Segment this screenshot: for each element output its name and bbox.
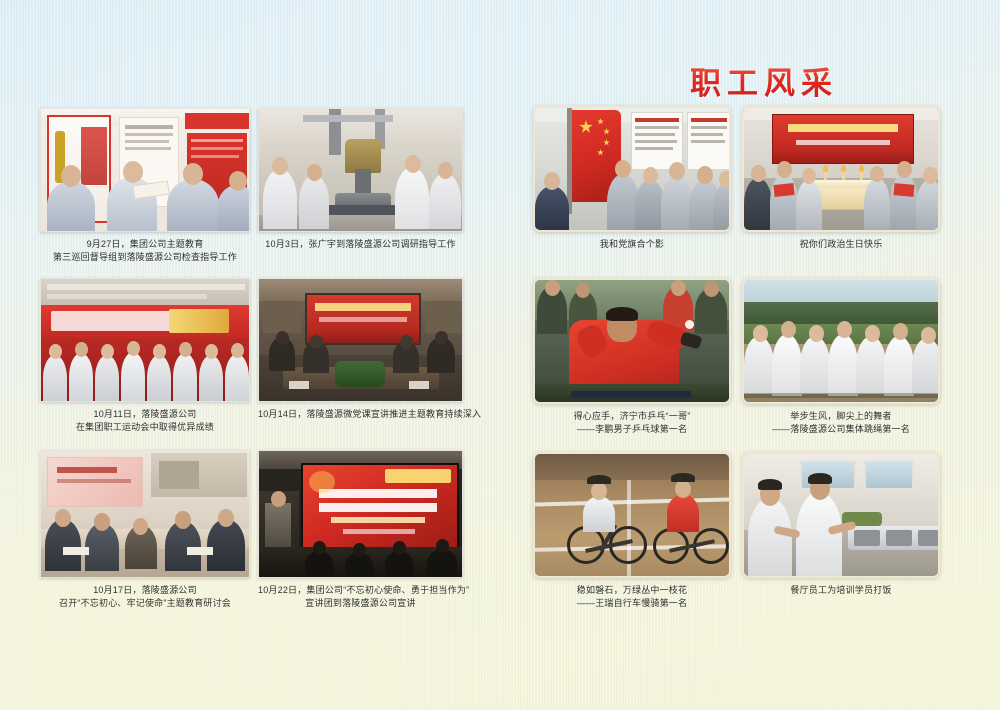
- photo-canteen-staff-serving[interactable]: [742, 452, 940, 578]
- poster-page: 职工风采: [0, 0, 1000, 710]
- photo-block-canteen-staff-serving: 餐厅员工为培训学员打饭: [742, 452, 940, 597]
- caption-slow-cycling-champion: 稳如磐石，万绿丛中一枝花 ——王瑞自行车慢骑第一名: [533, 584, 731, 610]
- caption-micro-party-lecture: 10月14日，落陵盛源微党课宣讲推进主题教育持续深入: [258, 408, 463, 421]
- photo-party-education-inspection[interactable]: [40, 108, 250, 232]
- caption-party-education-inspection: 9月27日，集团公司主题教育 第三巡回督导组到落陵盛源公司检查指导工作: [40, 238, 250, 264]
- photo-block-speaking-tour: 10月22日，集团公司“不忘初心使命、勇于担当作为” 宣讲团到落陵盛源公司宣讲: [258, 450, 463, 610]
- photo-speaking-tour[interactable]: [258, 450, 463, 578]
- photo-block-table-tennis-champion: 得心应手，济宁市乒乓“一哥” ——李鹏男子乒乓球第一名: [533, 278, 731, 436]
- caption-canteen-staff-serving: 餐厅员工为培训学员打饭: [742, 584, 940, 597]
- caption-sports-meeting-award: 10月11日，落陵盛源公司 在集团职工运动会中取得优异成绩: [40, 408, 250, 434]
- photo-zhang-guangyu-research[interactable]: [258, 108, 463, 232]
- caption-zhang-guangyu-research: 10月3日，张广宇到落陵盛源公司调研指导工作: [258, 238, 463, 251]
- photo-political-birthday[interactable]: [742, 106, 940, 232]
- photo-block-political-birthday: 祝你们政治生日快乐: [742, 106, 940, 251]
- photo-block-party-flag-group: 我和党旗合个影: [533, 106, 731, 251]
- photo-table-tennis-champion[interactable]: [533, 278, 731, 404]
- photo-block-sports-meeting-award: 10月11日，落陵盛源公司 在集团职工运动会中取得优异成绩: [40, 278, 250, 434]
- page-title: 职工风采: [690, 60, 920, 100]
- photo-block-party-education-inspection: 9月27日，集团公司主题教育 第三巡回督导组到落陵盛源公司检查指导工作: [40, 108, 250, 264]
- photo-block-slow-cycling-champion: 稳如磐石，万绿丛中一枝花 ——王瑞自行车慢骑第一名: [533, 452, 731, 610]
- caption-table-tennis-champion: 得心应手，济宁市乒乓“一哥” ——李鹏男子乒乓球第一名: [533, 410, 731, 436]
- photo-sports-meeting-award[interactable]: [40, 278, 250, 402]
- photo-micro-party-lecture[interactable]: [258, 278, 463, 402]
- caption-political-birthday: 祝你们政治生日快乐: [742, 238, 940, 251]
- caption-speaking-tour: 10月22日，集团公司“不忘初心使命、勇于担当作为” 宣讲团到落陵盛源公司宣讲: [258, 584, 463, 610]
- photo-rope-skipping-team[interactable]: [742, 278, 940, 404]
- photo-block-rope-skipping-team: 举步生风，脚尖上的舞者 ——落陵盛源公司集体跳绳第一名: [742, 278, 940, 436]
- photo-theme-education-seminar[interactable]: [40, 450, 250, 578]
- photo-block-zhang-guangyu-research: 10月3日，张广宇到落陵盛源公司调研指导工作: [258, 108, 463, 251]
- photo-block-theme-education-seminar: 10月17日，落陵盛源公司 召开“不忘初心、牢记使命”主题教育研讨会: [40, 450, 250, 610]
- caption-rope-skipping-team: 举步生风，脚尖上的舞者 ——落陵盛源公司集体跳绳第一名: [742, 410, 940, 436]
- photo-slow-cycling-champion[interactable]: [533, 452, 731, 578]
- photo-party-flag-group[interactable]: [533, 106, 731, 232]
- photo-block-micro-party-lecture: 10月14日，落陵盛源微党课宣讲推进主题教育持续深入: [258, 278, 463, 421]
- caption-party-flag-group: 我和党旗合个影: [533, 238, 731, 251]
- caption-theme-education-seminar: 10月17日，落陵盛源公司 召开“不忘初心、牢记使命”主题教育研讨会: [40, 584, 250, 610]
